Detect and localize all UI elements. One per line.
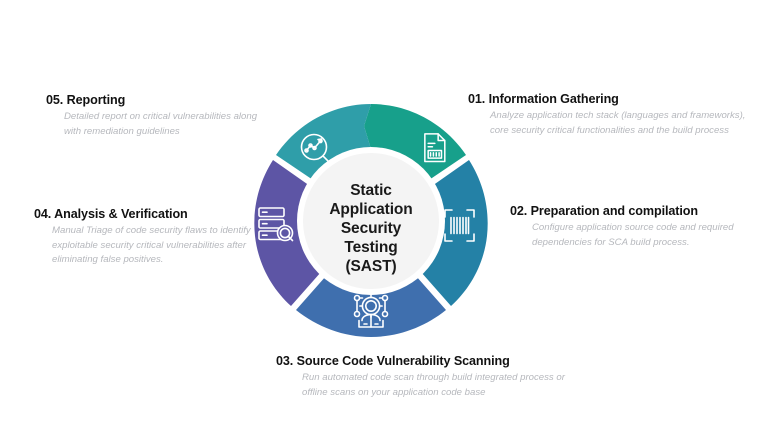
callout-02-heading: 02. Preparation and compilation	[510, 204, 760, 218]
callout-step-01[interactable]: 01. Information Gathering Analyze applic…	[468, 92, 758, 138]
callout-04-number: 04.	[34, 207, 51, 221]
callout-05-heading: 05. Reporting	[46, 93, 276, 107]
center-label: Static Application Security Testing (SAS…	[294, 160, 448, 296]
callout-03-description: Run automated code scan through build in…	[302, 371, 576, 400]
callout-01-number: 01.	[468, 92, 485, 106]
callout-step-03[interactable]: 03. Source Code Vulnerability Scanning R…	[276, 354, 576, 400]
callout-04-title: Analysis & Verification	[54, 207, 187, 221]
callout-02-description: Configure application source code and re…	[532, 221, 760, 250]
center-line-4: Testing	[344, 238, 397, 257]
center-line-2: Application	[329, 200, 412, 219]
center-line-3: Security	[341, 219, 401, 238]
callout-05-number: 05.	[46, 93, 63, 107]
callout-05-description: Detailed report on critical vulnerabilit…	[64, 110, 276, 139]
callout-01-description: Analyze application tech stack (language…	[490, 109, 758, 138]
callout-05-title: Reporting	[67, 93, 126, 107]
center-line-1: Static	[350, 181, 392, 200]
callout-03-number: 03.	[276, 354, 293, 368]
callout-02-title: Preparation and compilation	[531, 204, 698, 218]
callout-04-heading: 04. Analysis & Verification	[34, 207, 264, 221]
sast-process-diagram: Static Application Security Testing (SAS…	[0, 0, 768, 432]
callout-01-title: Information Gathering	[489, 92, 619, 106]
callout-03-title: Source Code Vulnerability Scanning	[297, 354, 510, 368]
callout-01-heading: 01. Information Gathering	[468, 92, 758, 106]
center-line-5: (SAST)	[345, 257, 396, 276]
process-wheel: Static Application Security Testing (SAS…	[240, 104, 502, 352]
callout-step-05[interactable]: 05. Reporting Detailed report on critica…	[46, 93, 276, 139]
callout-04-description: Manual Triage of code security flaws to …	[52, 224, 264, 268]
callout-step-04[interactable]: 04. Analysis & Verification Manual Triag…	[34, 207, 264, 268]
callout-step-02[interactable]: 02. Preparation and compilation Configur…	[510, 204, 760, 250]
callout-02-number: 02.	[510, 204, 527, 218]
callout-03-heading: 03. Source Code Vulnerability Scanning	[276, 354, 576, 368]
